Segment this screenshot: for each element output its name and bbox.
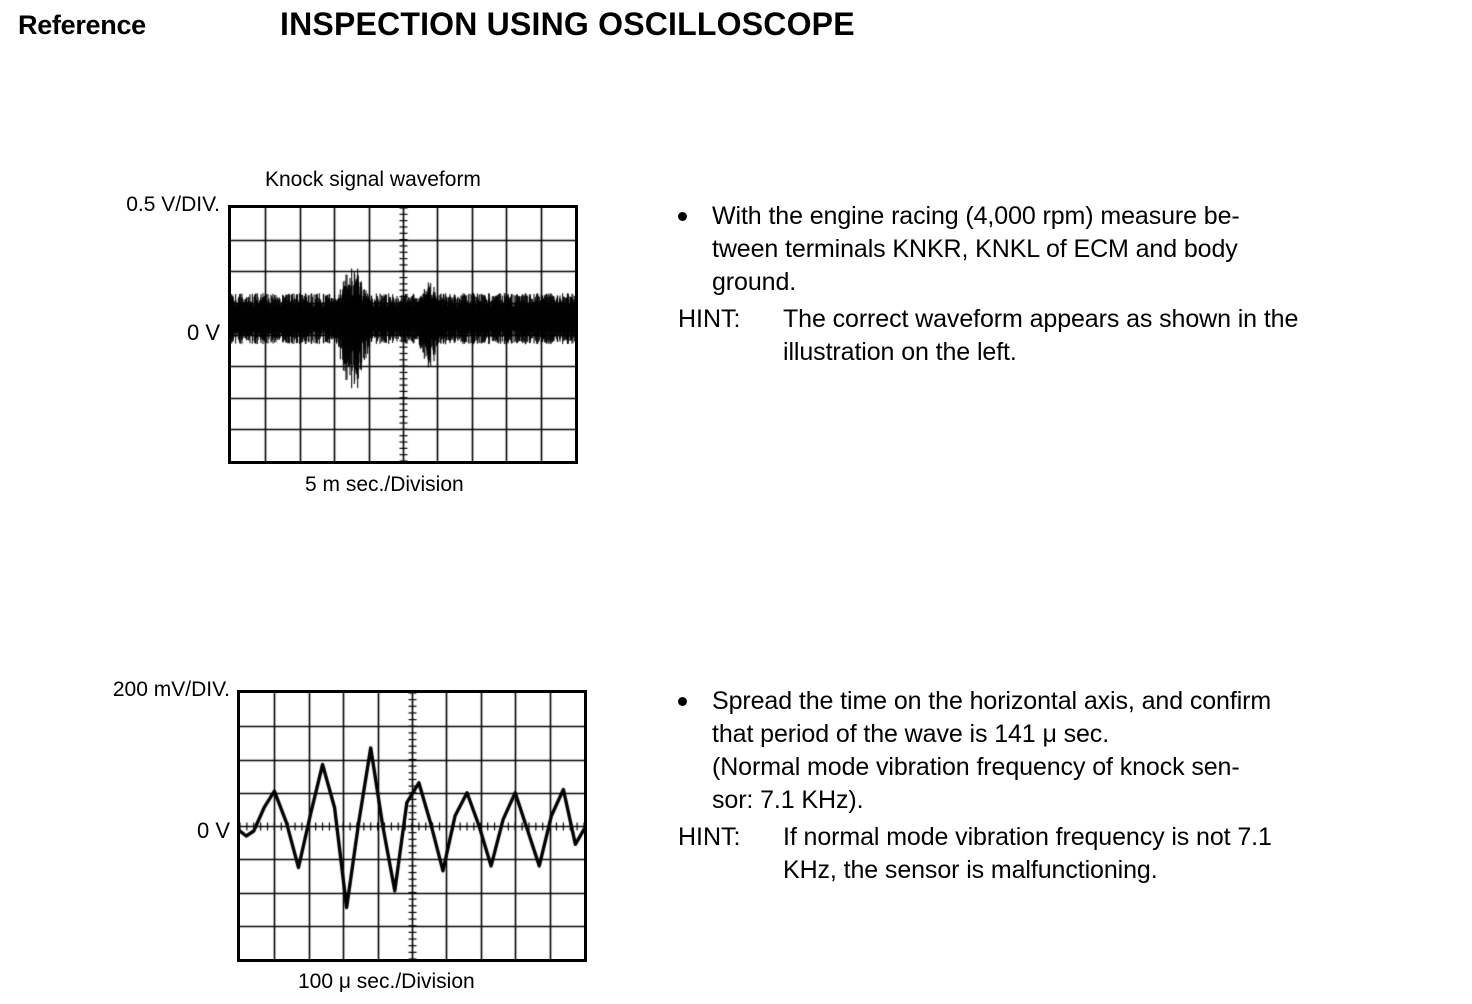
- hint-label: HINT:: [678, 303, 741, 336]
- text-line: sor: 7.1 KHz).: [712, 784, 1468, 817]
- instruction-bullet-spread-time-text: Spread the time on the horizontal axis, …: [712, 685, 1468, 817]
- hint-correct-waveform-text: The correct waveform appears as shown in…: [783, 303, 1458, 369]
- resonance-zero-volt-label: 0 V: [120, 818, 230, 844]
- resonance-waveform-figure: 200 mV/DIV. 0 V 100 μ sec./Division: [0, 0, 640, 1004]
- hint-label: HINT:: [678, 821, 741, 854]
- bullet-point-icon: [678, 697, 687, 706]
- hint-correct-waveform: HINT: The correct waveform appears as sh…: [678, 303, 1458, 369]
- resonance-waveform-canvas: [240, 693, 584, 959]
- text-line: The correct waveform appears as shown in…: [783, 303, 1458, 336]
- text-line: that period of the wave is 141 μ sec.: [712, 718, 1468, 751]
- hint-malfunction: HINT: If normal mode vibration frequency…: [678, 821, 1468, 887]
- text-line: illustration on the left.: [783, 336, 1458, 369]
- text-line: Spread the time on the horizontal axis, …: [712, 685, 1468, 718]
- document-page: Reference INSPECTION USING OSCILLOSCOPE …: [0, 0, 1472, 1004]
- text-line: If normal mode vibration frequency is no…: [783, 821, 1468, 854]
- knock-signal-instructions: With the engine racing (4,000 rpm) measu…: [678, 200, 1458, 369]
- bullet-point-icon: [678, 212, 687, 221]
- instruction-bullet-measure-text: With the engine racing (4,000 rpm) measu…: [712, 200, 1458, 299]
- hint-malfunction-text: If normal mode vibration frequency is no…: [783, 821, 1468, 887]
- resonance-vertical-scale-label: 200 mV/DIV.: [40, 678, 230, 702]
- text-line: ground.: [712, 266, 1458, 299]
- resonance-scope-screen: [237, 690, 587, 962]
- instruction-bullet-measure: With the engine racing (4,000 rpm) measu…: [678, 200, 1458, 299]
- text-line: With the engine racing (4,000 rpm) measu…: [712, 200, 1458, 233]
- resonance-timebase-label: 100 μ sec./Division: [298, 970, 475, 994]
- resonance-instructions: Spread the time on the horizontal axis, …: [678, 685, 1468, 887]
- text-line: KHz, the sensor is malfunctioning.: [783, 854, 1468, 887]
- text-line: tween terminals KNKR, KNKL of ECM and bo…: [712, 233, 1458, 266]
- instruction-bullet-spread-time: Spread the time on the horizontal axis, …: [678, 685, 1468, 817]
- text-line: (Normal mode vibration frequency of knoc…: [712, 751, 1468, 784]
